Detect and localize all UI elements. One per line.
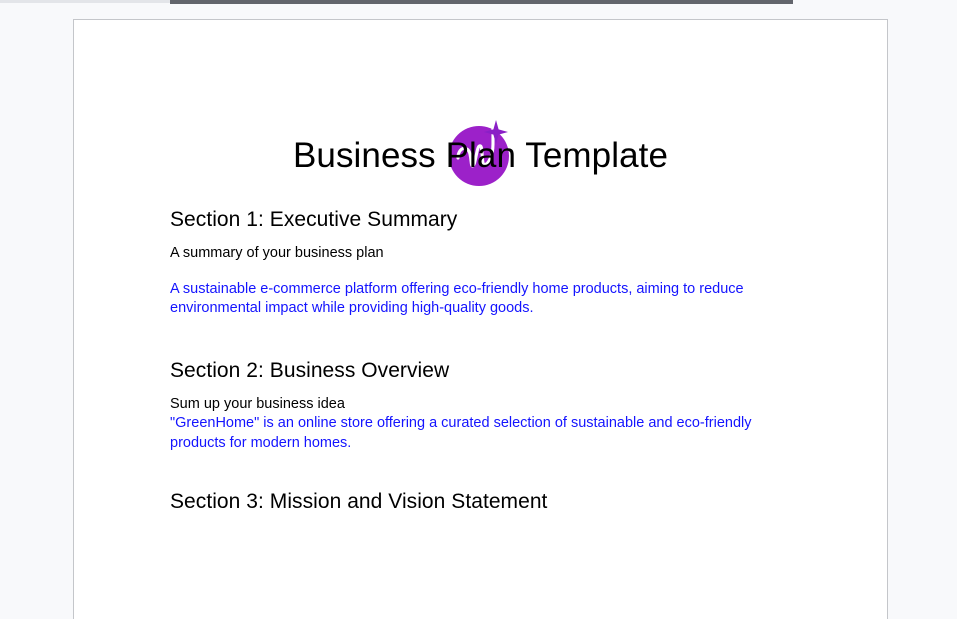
section-block-1: Section 1: Executive Summary A summary o… bbox=[170, 207, 827, 318]
section-prompt-1: A summary of your business plan bbox=[170, 234, 827, 263]
section-spacer-2 bbox=[170, 453, 827, 489]
section-block-2: Section 2: Business Overview Sum up your… bbox=[170, 358, 827, 453]
section-answer-1[interactable]: A sustainable e-commerce platform offeri… bbox=[170, 264, 770, 319]
editor-toolbar-bottom-edge bbox=[170, 0, 793, 4]
section-spacer-1 bbox=[170, 318, 827, 358]
document-title: Business Plan Template bbox=[74, 114, 887, 176]
document-body: Section 1: Executive Summary A summary o… bbox=[74, 176, 887, 516]
section-heading-1: Section 1: Executive Summary bbox=[170, 207, 827, 234]
document-content: Business Plan Template Section 1: Execut… bbox=[74, 20, 887, 516]
section-block-3: Section 3: Mission and Vision Statement bbox=[170, 489, 827, 516]
section-prompt-2: Sum up your business idea bbox=[170, 385, 827, 414]
document-page[interactable]: Business Plan Template Section 1: Execut… bbox=[73, 19, 888, 619]
section-heading-3: Section 3: Mission and Vision Statement bbox=[170, 489, 827, 516]
section-heading-2: Section 2: Business Overview bbox=[170, 358, 827, 385]
top-chrome-strip bbox=[0, 0, 957, 7]
wondershare-w-logo-icon bbox=[444, 20, 518, 114]
application-root: Business Plan Template Section 1: Execut… bbox=[0, 0, 957, 574]
section-answer-2[interactable]: "GreenHome" is an online store offering … bbox=[170, 414, 770, 453]
toolbar-edge-left-cap bbox=[0, 0, 170, 3]
